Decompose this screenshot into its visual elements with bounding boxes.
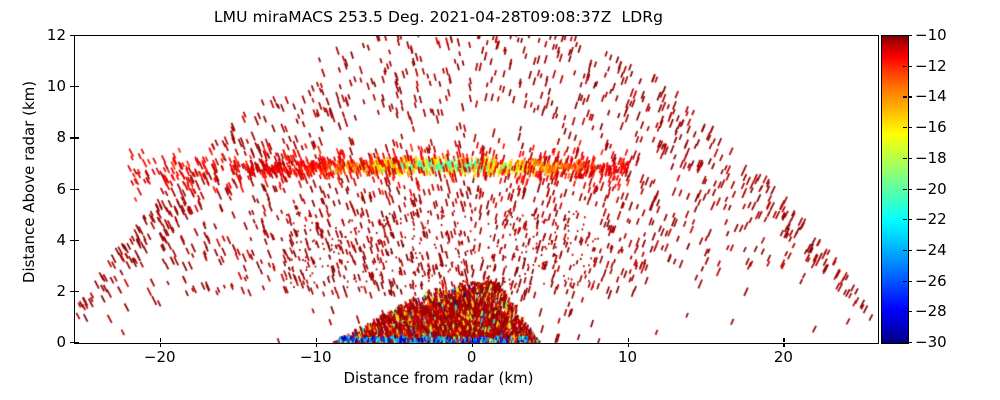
y-tick-mark-inner — [75, 189, 79, 190]
colorbar-tick-mark — [908, 35, 912, 36]
colorbar-tick-label: −16 — [915, 118, 947, 136]
colorbar-tick-mark-inner — [903, 35, 907, 36]
colorbar-tick-label: −14 — [915, 87, 947, 105]
x-tick-mark — [628, 343, 629, 347]
y-tick-mark-inner — [75, 240, 79, 241]
colorbar-tick-mark-inner — [903, 342, 907, 343]
x-tick-mark-inner — [783, 338, 784, 342]
x-axis-label: Distance from radar (km) — [0, 369, 877, 387]
colorbar-tick-mark — [908, 311, 912, 312]
y-axis-label: Distance Above radar (km) — [20, 32, 38, 332]
colorbar-tick-mark — [908, 66, 912, 67]
colorbar-tick-mark — [908, 219, 912, 220]
x-tick-label: 0 — [442, 348, 502, 366]
y-tick-mark-inner — [75, 342, 79, 343]
radar-rhi-figure: LMU miraMACS 253.5 Deg. 2021-04-28T09:08… — [0, 0, 1000, 400]
colorbar-tick-mark — [908, 342, 912, 343]
x-tick-mark — [316, 343, 317, 347]
y-tick-mark-inner — [75, 137, 79, 138]
colorbar-tick-mark — [908, 96, 912, 97]
colorbar-tick-mark-inner — [903, 189, 907, 190]
x-tick-mark-inner — [628, 338, 629, 342]
colorbar-tick-mark-inner — [903, 250, 907, 251]
x-tick-mark — [160, 343, 161, 347]
x-tick-mark-inner — [472, 338, 473, 342]
y-tick-mark — [70, 291, 74, 292]
colorbar-tick-mark-inner — [903, 127, 907, 128]
colorbar-tick-label: −18 — [915, 149, 947, 167]
colorbar-tick-mark-inner — [903, 311, 907, 312]
colorbar-tick-label: −12 — [915, 57, 947, 75]
colorbar-tick-mark-inner — [903, 219, 907, 220]
x-tick-mark-inner — [316, 338, 317, 342]
y-tick-mark-inner — [75, 86, 79, 87]
x-tick-mark-inner — [160, 338, 161, 342]
y-tick-mark — [70, 240, 74, 241]
x-tick-mark — [783, 343, 784, 347]
colorbar-tick-mark — [908, 189, 912, 190]
colorbar-tick-mark-inner — [903, 158, 907, 159]
y-tick-label: 0 — [14, 333, 66, 351]
colorbar-tick-mark — [908, 158, 912, 159]
colorbar-tick-label: −22 — [915, 210, 947, 228]
colorbar-tick-label: −10 — [915, 26, 947, 44]
colorbar-tick-mark — [908, 281, 912, 282]
y-tick-mark — [70, 189, 74, 190]
y-tick-mark-inner — [75, 291, 79, 292]
scatter-plot-canvas — [75, 36, 878, 343]
colorbar-tick-label: −28 — [915, 302, 947, 320]
y-tick-mark — [70, 342, 74, 343]
colorbar-tick-mark — [908, 127, 912, 128]
colorbar-tick-label: −24 — [915, 241, 947, 259]
x-tick-label: −10 — [286, 348, 346, 366]
x-tick-mark — [472, 343, 473, 347]
y-tick-mark — [70, 35, 74, 36]
colorbar-tick-mark-inner — [903, 96, 907, 97]
x-tick-label: 20 — [753, 348, 813, 366]
colorbar-tick-mark-inner — [903, 66, 907, 67]
x-tick-label: 10 — [598, 348, 658, 366]
colorbar-tick-label: −20 — [915, 180, 947, 198]
colorbar-tick-label: −26 — [915, 272, 947, 290]
colorbar-tick-mark-inner — [903, 281, 907, 282]
y-tick-mark-inner — [75, 35, 79, 36]
page-title: LMU miraMACS 253.5 Deg. 2021-04-28T09:08… — [0, 8, 877, 26]
colorbar-tick-mark — [908, 250, 912, 251]
y-tick-mark — [70, 137, 74, 138]
plot-axes — [74, 35, 879, 344]
colorbar-tick-label: −30 — [915, 333, 947, 351]
x-tick-label: −20 — [130, 348, 190, 366]
y-tick-mark — [70, 86, 74, 87]
